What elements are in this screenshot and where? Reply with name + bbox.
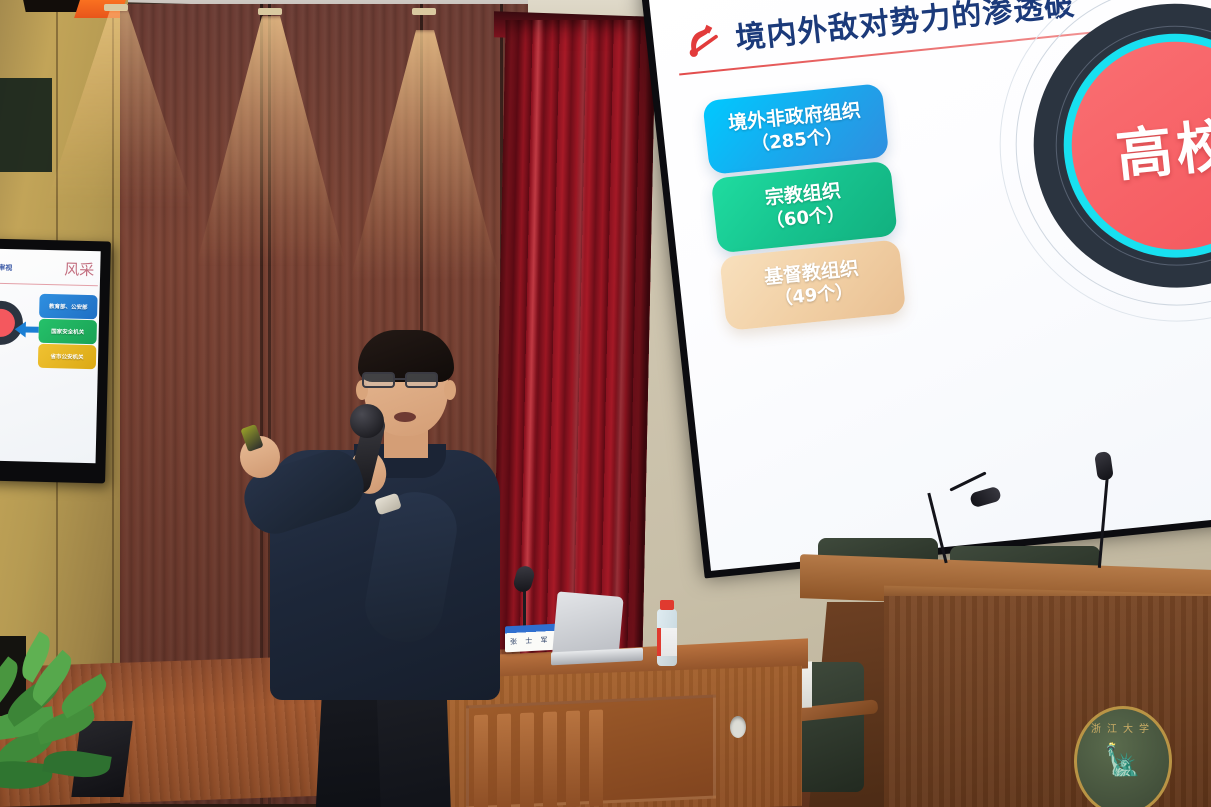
potted-plant [0, 627, 154, 807]
podium-front-panel: 🗽 浙江大学 [884, 596, 1211, 807]
bottle-cap [660, 600, 674, 610]
wall-dark-square [0, 78, 52, 172]
target-core-label: 高校 [1112, 99, 1211, 192]
emblem-bird-icon: 🗽 [1104, 746, 1141, 776]
microphone-head-icon [350, 404, 384, 438]
bottle-label [657, 628, 677, 656]
presenter-glasses-icon [362, 372, 450, 388]
presenter [246, 332, 516, 807]
podium-microphone-right [1086, 448, 1146, 568]
slide-box-column: 境外非政府组织 （285个） 宗教组织 （60个） 基督教组织 （49个） [702, 83, 906, 335]
side-monitor-arrow-tail [25, 326, 39, 332]
side-monitor-screen: 审视 风采 教育部、公安部 国家安全机关 省市公安机关 [0, 249, 101, 463]
spotlight-fixture-1 [258, 8, 282, 15]
cpc-hammer-sickle-icon [677, 15, 726, 63]
side-monitor-script-mark: 风采 [64, 258, 95, 280]
presenter-laptop [551, 594, 643, 666]
podium-microphone-left [930, 452, 1040, 564]
spotlight-fixture-2 [412, 8, 436, 15]
christian-org-box: 基督教组织 （49个） [719, 239, 906, 331]
religious-org-box: 宗教组织 （60个） [711, 161, 898, 253]
ceiling-black-fixture [22, 0, 83, 12]
foreign-ngo-box: 境外非政府组织 （285个） [702, 83, 889, 175]
side-monitor-box-column: 教育部、公安部 国家安全机关 省市公安机关 [38, 294, 98, 370]
nameplate-text: 张 士 军 [510, 635, 550, 647]
lectern-cable-port [730, 716, 746, 738]
main-podium: 🗽 浙江大学 [800, 556, 1211, 807]
provincial-police-box: 省市公安机关 [38, 344, 97, 369]
side-monitor-header: 审视 风采 [0, 255, 99, 285]
side-wall-monitor: 审视 风采 教育部、公安部 国家安全机关 省市公安机关 [0, 239, 111, 484]
lecture-hall-scene: 境内外敌对势力的渗透破 境外非政府组织 （285个） 宗教组织 （60个） 基督… [0, 0, 1211, 807]
side-monitor-header-text: 审视 [0, 263, 12, 273]
water-bottle [656, 600, 678, 666]
presenter-mouth [394, 412, 416, 422]
ministry-box: 教育部、公安部 [39, 294, 98, 319]
spotlight-fixture-3 [104, 4, 128, 11]
state-security-box: 国家安全机关 [38, 319, 97, 344]
target-rings-graphic: 高校 [1010, 0, 1211, 310]
university-emblem-text: 浙江大学 [1090, 720, 1156, 735]
